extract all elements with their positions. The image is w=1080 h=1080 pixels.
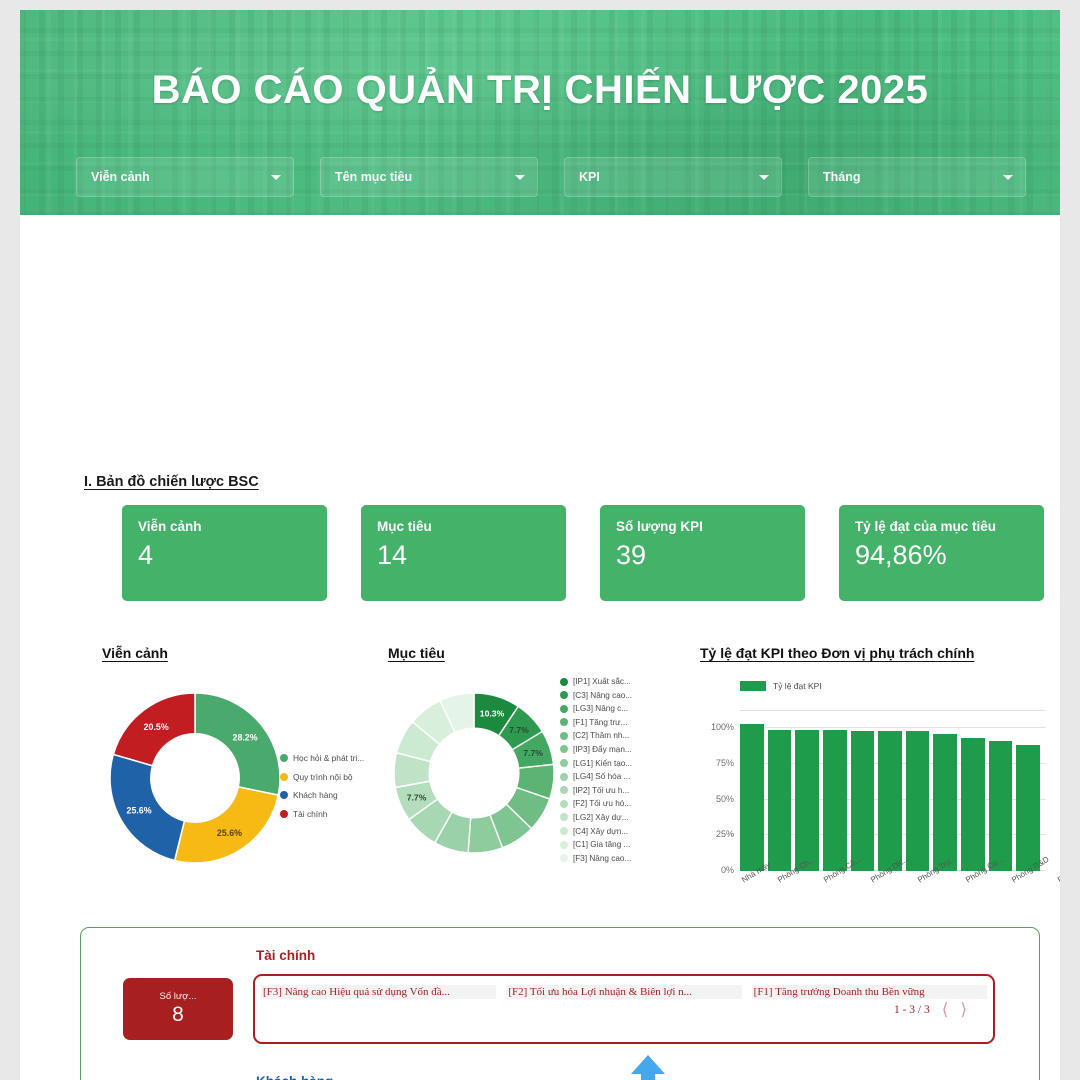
filter-thang[interactable]: Tháng [808,157,1026,197]
bsc-strategy-map-panel: Tài chínhSố lượ...8[F3] Nâng cao Hiệu qu… [80,927,1040,1080]
legend-color-dot [560,759,568,767]
perspective-count-label: Số lượ... [160,991,197,1002]
legend-color-dot [560,773,568,781]
legend-item-label: Khách hàng [293,790,338,800]
y-axis-tick-label: 25% [716,829,734,839]
pie-slice-label: 25.6% [127,806,152,816]
legend-item[interactable]: [IP1] Xuất sắc... [560,677,632,686]
legend-color-dot [560,841,568,849]
legend-item[interactable]: [C3] Nâng cao... [560,691,632,700]
page-header: BÁO CÁO QUẢN TRỊ CHIẾN LƯỢC 2025 Viễn cả… [20,10,1060,215]
pie-slice-label: 7.7% [523,748,543,758]
filter-ten-muc-tieu[interactable]: Tên mục tiêu [320,157,538,197]
legend-color-dot [560,854,568,862]
chevron-down-icon[interactable] [515,175,525,180]
bar[interactable] [989,741,1013,871]
legend-item[interactable]: [IP3] Đẩy mạn... [560,745,632,754]
legend-item[interactable]: Tài chính [280,809,364,819]
pager-range: 1 - 3 / 3 [894,1004,930,1016]
legend-vien-canh: Học hỏi & phát tri...Quy trình nội bộKhá… [280,753,364,819]
legend-item-label: [F3] Nâng cao... [573,854,631,863]
legend-item[interactable]: [C1] Gia tăng ... [560,840,632,849]
y-axis-tick-label: 0% [721,865,734,875]
goal-pager: 1 - 3 / 3⟨⟩ [255,999,993,1018]
legend-item-label: [F1] Tăng trư... [573,718,627,727]
kpi-card-value: 14 [377,539,550,571]
perspective-title: Tài chính [256,948,315,963]
legend-item[interactable]: [LG4] Số hóa ... [560,772,632,781]
kpi-summary-cards: Viễn cảnh4Mục tiêu14Số lượng KPI39Tỷ lệ … [122,505,1044,601]
legend-item-label: [C1] Gia tăng ... [573,840,630,849]
y-axis-tick-label: 50% [716,794,734,804]
legend-color-dot [560,813,568,821]
filter-kpi[interactable]: KPI [564,157,782,197]
y-axis-tick-label: 75% [716,758,734,768]
legend-item[interactable]: [LG3] Nâng c... [560,704,632,713]
legend-item[interactable]: [F3] Nâng cao... [560,854,632,863]
goal-chip[interactable]: [F1] Tăng trưởng Doanh thu Bền vững [752,985,987,999]
filter-vien-canh-label: Viễn cảnh [91,170,150,184]
bar[interactable] [823,730,847,871]
legend-color-dot [280,754,288,762]
chevron-down-icon[interactable] [759,175,769,180]
chevron-right-icon[interactable]: ⟩ [960,1001,967,1018]
filter-ten-muc-tieu-label: Tên mục tiêu [335,170,412,184]
legend-color-dot [280,810,288,818]
legend-item-label: [LG1] Kiến tạo... [573,759,632,768]
page-title: BÁO CÁO QUẢN TRỊ CHIẾN LƯỢC 2025 [20,68,1060,113]
legend-item-label: [C4] Xây dựn... [573,827,628,836]
filter-vien-canh[interactable]: Viễn cảnh [76,157,294,197]
y-axis-tick-label: 100% [711,722,734,732]
perspective-count-value: 8 [172,1003,184,1027]
legend-item-label: Quy trình nội bộ [293,772,353,782]
legend-color-dot [560,678,568,686]
goal-chip-list: [F3] Nâng cao Hiệu quả sử dụng Vốn đầ...… [255,976,993,999]
bar[interactable] [740,724,764,871]
perspective-title: Khách hàng [256,1074,333,1080]
filter-kpi-label: KPI [579,170,600,184]
legend-item-label: Tài chính [293,809,327,819]
bar-series-ty-le-dat-kpi [740,711,1040,871]
bar[interactable] [961,738,985,871]
filter-thang-label: Tháng [823,170,861,184]
legend-item-label: [C2] Thâm nh... [573,731,629,740]
kpi-card-label: Mục tiêu [377,519,550,535]
perspective-count-card: Số lượ...8 [123,978,233,1040]
legend-item-label: [F2] Tối ưu hó... [573,799,631,808]
donut-chart-vien-canh[interactable]: 28.2%25.6%25.6%20.5% [110,693,280,863]
legend-item-label: [C3] Nâng cao... [573,691,632,700]
legend-color-dot [280,773,288,781]
report-page: BÁO CÁO QUẢN TRỊ CHIẾN LƯỢC 2025 Viễn cả… [20,10,1060,1080]
bar-chart-x-axis-labels: Nhà máyPhòng Ch...Phòng Cô...Phòng Dic..… [740,873,1040,921]
legend-swatch-ty-le-dat-kpi [740,681,766,691]
kpi-card-label: Tỷ lệ đạt của mục tiêu [855,519,1028,535]
legend-color-dot [280,791,288,799]
pie-slice[interactable] [195,693,280,795]
kpi-card: Số lượng KPI39 [600,505,805,601]
kpi-card-label: Số lượng KPI [616,519,789,535]
legend-item[interactable]: Khách hàng [280,790,364,800]
donut-chart-muc-tieu[interactable]: 10.3%7.7%7.7%7.7% [394,693,554,853]
kpi-card: Mục tiêu14 [361,505,566,601]
legend-item[interactable]: [F1] Tăng trư... [560,718,632,727]
pie-slice[interactable] [175,787,279,863]
goal-chip[interactable]: [F2] Tối ưu hóa Lợi nhuận & Biên lợi n..… [506,985,741,999]
legend-item-label: [IP3] Đẩy mạn... [573,745,632,754]
bar[interactable] [768,730,792,871]
bar[interactable] [851,731,875,871]
legend-item[interactable]: [C4] Xây dựn... [560,827,632,836]
bar-chart-legend: Tỷ lệ đạt KPI [740,681,822,691]
legend-item[interactable]: Quy trình nội bộ [280,772,364,782]
legend-item[interactable]: [LG2] Xây dự... [560,813,632,822]
legend-item-label: [LG4] Số hóa ... [573,772,630,781]
legend-item[interactable]: [F2] Tối ưu hó... [560,799,632,808]
legend-item-label: [IP2] Tối ưu h... [573,786,629,795]
kpi-card: Tỷ lệ đạt của mục tiêu94,86% [839,505,1044,601]
chart-title-vien-canh: Viễn cảnh [102,645,168,661]
filter-bar: Viễn cảnh Tên mục tiêu KPI Tháng [76,157,1026,197]
pie-slice-label: 20.5% [144,722,169,732]
pie-slice-label: 7.7% [509,725,529,735]
legend-color-dot [560,732,568,740]
pie-slice-label: 7.7% [407,793,427,803]
perspective-goal-box: [F3] Nâng cao Hiệu quả sử dụng Vốn đầ...… [253,974,995,1044]
bar[interactable] [906,731,930,871]
legend-item-label: Học hỏi & phát tri... [293,753,364,763]
kpi-card: Viễn cảnh4 [122,505,327,601]
pie-slice-label: 28.2% [233,733,258,743]
legend-item[interactable]: [LG1] Kiến tạo... [560,759,632,768]
goal-chip[interactable]: [F3] Nâng cao Hiệu quả sử dụng Vốn đầ... [261,985,496,999]
legend-color-dot [560,691,568,699]
legend-item[interactable]: Học hỏi & phát tri... [280,753,364,763]
legend-color-dot [560,745,568,753]
bar[interactable] [795,730,819,871]
legend-color-dot [560,827,568,835]
legend-color-dot [560,718,568,726]
bar-chart-kpi-by-unit[interactable]: Tỷ lệ đạt KPI 100%75%50%25%0% Nhà máyPhò… [692,673,1050,923]
kpi-card-label: Viễn cảnh [138,519,311,535]
pie-slice-label: 10.3% [480,708,505,718]
legend-color-dot [560,786,568,794]
chevron-down-icon[interactable] [1003,175,1013,180]
bar[interactable] [1016,745,1040,871]
legend-item[interactable]: [C2] Thâm nh... [560,731,632,740]
section-heading-bsc: I. Bản đồ chiến lược BSC [84,474,259,490]
chevron-left-icon[interactable]: ⟨ [942,1001,949,1018]
legend-muc-tieu: [IP1] Xuất sắc...[C3] Nâng cao...[LG3] N… [560,677,632,863]
legend-label-ty-le-dat-kpi: Tỷ lệ đạt KPI [773,681,822,691]
legend-item-label: [LG2] Xây dự... [573,813,629,822]
kpi-card-value: 94,86% [855,539,1028,571]
legend-color-dot [560,705,568,713]
up-arrow-icon [626,1052,670,1080]
chevron-down-icon[interactable] [271,175,281,180]
legend-item[interactable]: [IP2] Tối ưu h... [560,786,632,795]
legend-item-label: [IP1] Xuất sắc... [573,677,631,686]
chart-title-kpi-by-unit: Tỷ lệ đạt KPI theo Đơn vị phụ trách chín… [700,645,974,661]
bar[interactable] [933,734,957,871]
pie-slice-label: 25.6% [217,828,242,838]
bar[interactable] [878,731,902,871]
bar-chart-plot-area: 100%75%50%25%0% [740,711,1040,871]
chart-title-muc-tieu: Mục tiêu [388,645,445,661]
kpi-card-value: 4 [138,539,311,571]
legend-color-dot [560,800,568,808]
legend-item-label: [LG3] Nâng c... [573,704,628,713]
kpi-card-value: 39 [616,539,789,571]
